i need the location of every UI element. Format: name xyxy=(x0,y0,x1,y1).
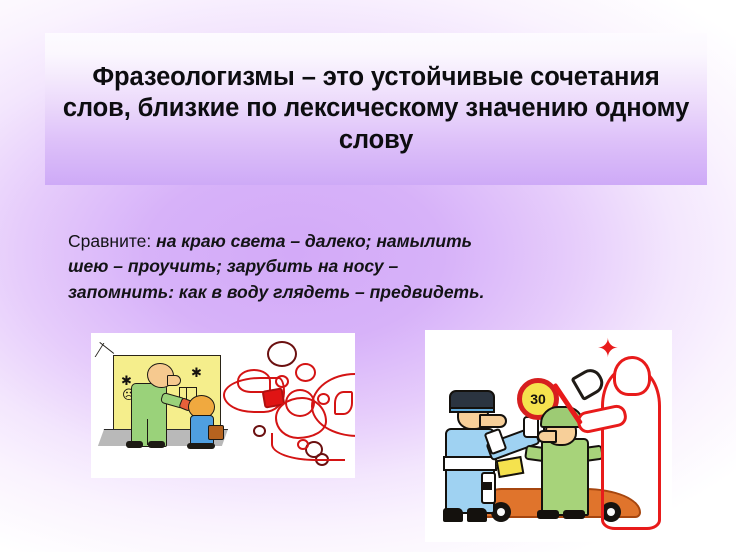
illustration-panel-left: ☹ ✱ ✱ ✱ xyxy=(91,333,355,478)
illustration-panel-right: 30 ✦ xyxy=(425,330,672,542)
driver-nose xyxy=(537,430,557,443)
neck-outline xyxy=(271,433,345,461)
child-shoes xyxy=(187,443,215,449)
slide-canvas: Фразеологизмы – это устойчивые сочетания… xyxy=(0,0,736,552)
spark-icon: ✦ xyxy=(597,336,619,362)
adult-body xyxy=(131,383,167,447)
title-box: Фразеологизмы – это устойчивые сочетания… xyxy=(45,33,707,185)
body-block: Сравните: на краю света – далеко; намыли… xyxy=(68,211,508,323)
policeman-belt xyxy=(443,456,497,471)
stick-figure-icon: ✱ xyxy=(191,367,202,380)
adult-shoe-right xyxy=(148,441,165,448)
policeman-nose xyxy=(479,414,507,428)
ticket-paper xyxy=(496,456,525,478)
policeman-boot-right xyxy=(467,508,487,522)
traffic-baton-stripe xyxy=(481,482,492,490)
body-lead: Сравните: xyxy=(68,231,151,251)
ear-outline xyxy=(334,391,353,415)
speed-limit-value: 30 xyxy=(530,392,546,406)
adult-shoe-left xyxy=(126,441,143,448)
page-title: Фразеологизмы – это устойчивые сочетания… xyxy=(55,62,697,156)
driver-shoe-left xyxy=(537,510,559,519)
bubble-icon xyxy=(253,425,266,437)
bubble-icon xyxy=(267,341,297,367)
driver-body xyxy=(541,438,589,516)
policeman-boot-left xyxy=(443,508,463,522)
soaping-neck-art xyxy=(219,339,351,471)
driver-shoe-right xyxy=(563,510,585,519)
policeman-cap xyxy=(449,390,495,409)
bubble-icon xyxy=(295,363,316,382)
body-paragraph: Сравните: на краю света – далеко; намыли… xyxy=(68,229,508,306)
adult-nose xyxy=(167,375,181,386)
